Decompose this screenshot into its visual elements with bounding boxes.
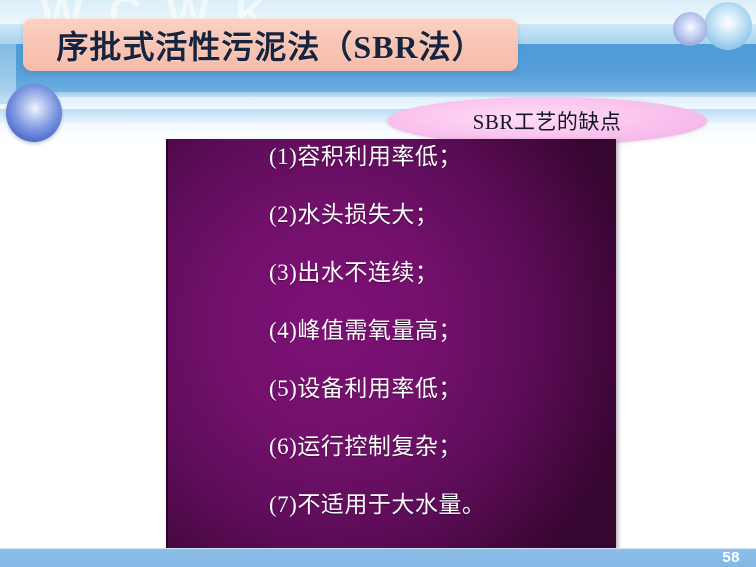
list-item: (5)设备利用率低； (168, 376, 616, 402)
page-title: 序批式活性污泥法（SBR法） (56, 22, 484, 68)
list-item: (1)容积利用率低； (168, 144, 616, 170)
content-box: (1)容积利用率低； (2)水头损失大； (3)出水不连续； (4)峰值需氧量高… (166, 139, 616, 548)
slide: W C W K 序批式活性污泥法（SBR法） SBR工艺的缺点 (1)容积利用率… (0, 0, 756, 567)
slide-title-plate: 序批式活性污泥法（SBR法） (23, 18, 518, 71)
list-item: (2)水头损失大； (168, 202, 616, 228)
page-number: 58 (722, 549, 740, 566)
drawback-list: (1)容积利用率低； (2)水头损失大； (3)出水不连续； (4)峰值需氧量高… (168, 139, 616, 548)
list-item: (7)不适用于大水量。 (168, 492, 616, 518)
bottom-bar: 58 (0, 549, 756, 567)
list-item: (6)运行控制复杂； (168, 434, 616, 460)
callout-label: SBR工艺的缺点 (473, 106, 622, 136)
list-item: (3)出水不连续； (168, 260, 616, 286)
callout-ellipse: SBR工艺的缺点 (387, 97, 707, 145)
decorative-sphere-icon (6, 84, 62, 142)
decorative-sphere-icon (704, 2, 752, 50)
decorative-sphere-icon (673, 12, 707, 46)
list-item: (4)峰值需氧量高； (168, 318, 616, 344)
